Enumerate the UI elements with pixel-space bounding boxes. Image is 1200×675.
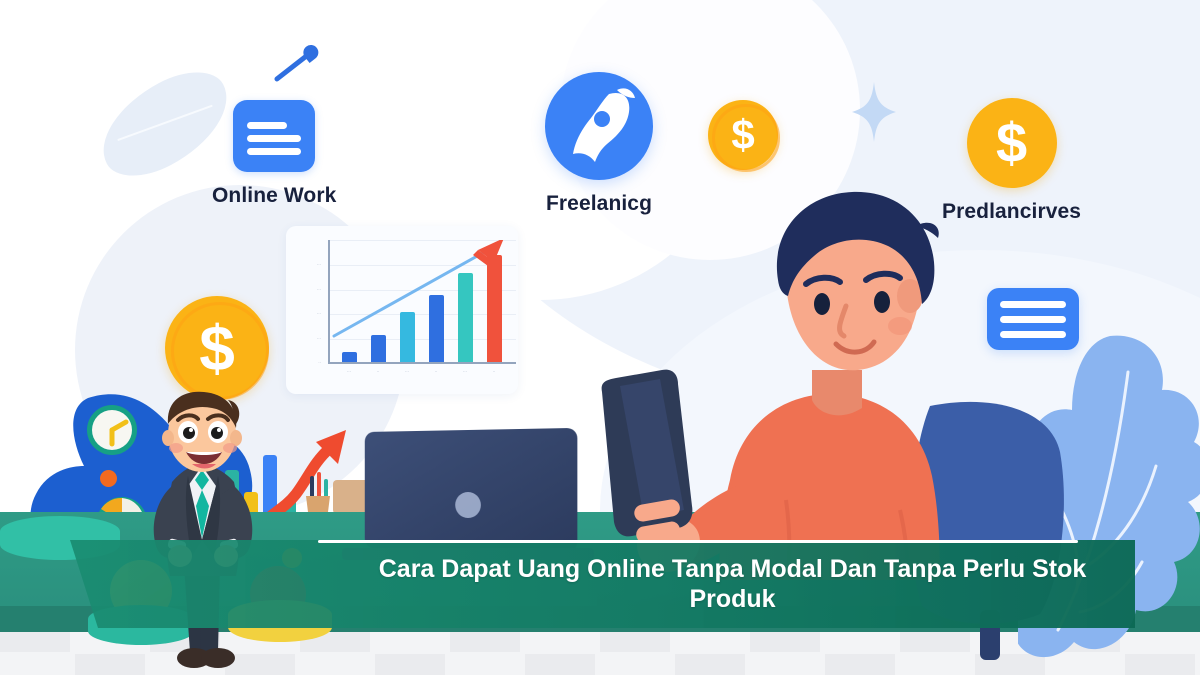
coin-top-center: $: [708, 100, 778, 170]
chart-xtick: ∙∙: [435, 369, 438, 375]
document-pen-icon: [233, 100, 315, 172]
chart-plot-area: ∙∙∙ ∙∙∙ ∙∙∙ ∙∙∙ ∙∙ ∙∙∙ ∙∙ ∙∙∙ ∙∙ ∙∙∙ ∙∙: [328, 240, 508, 364]
laptop-logo: [455, 492, 481, 518]
man-with-phone: [600, 180, 960, 580]
badge-online-work[interactable]: Online Work: [212, 100, 336, 208]
badge-label-freelancers: Predlancirves: [942, 200, 1081, 224]
badge-freelancers[interactable]: $ Predlancirves: [942, 98, 1081, 224]
chart-xtick: ∙∙∙: [347, 369, 351, 375]
dollar-symbol: $: [731, 114, 754, 156]
trend-arrow-annotation: [328, 240, 508, 364]
chart-xtick: ∙∙: [377, 369, 380, 375]
dollar-symbol: $: [199, 316, 235, 380]
chart-ytick: ∙∙∙: [317, 287, 321, 293]
chart-xtick: ∙∙: [493, 369, 496, 375]
dollar-coin-icon: $: [967, 98, 1057, 188]
chart-ytick: ∙∙: [318, 360, 321, 366]
badge-label-online-work: Online Work: [212, 184, 336, 208]
wall-clock-icon: [85, 403, 139, 457]
dollar-symbol: $: [996, 115, 1027, 171]
illustration-canvas: Online Work Freelanicg $ Predlancirves $…: [0, 0, 1200, 675]
pen-icon: [274, 50, 313, 82]
bar-chart-panel: ∙∙∙ ∙∙∙ ∙∙∙ ∙∙∙ ∙∙ ∙∙∙ ∙∙ ∙∙∙ ∙∙ ∙∙∙ ∙∙: [286, 226, 518, 394]
rocket-icon: [545, 72, 653, 180]
chart-xtick: ∙∙∙: [463, 369, 467, 375]
banner-top-rule: [318, 540, 1078, 543]
sparkle-star-icon: [852, 82, 896, 142]
chart-ytick: ∙∙∙: [317, 311, 321, 317]
orange-dot-decoration: [100, 470, 117, 487]
page-title: Cara Dapat Uang Online Tanpa Modal Dan T…: [353, 554, 1113, 615]
title-banner: Cara Dapat Uang Online Tanpa Modal Dan T…: [70, 540, 1135, 628]
laptop-lid: [365, 428, 578, 552]
chart-ytick: ∙∙∙: [317, 262, 321, 268]
chart-ytick: ∙∙∙: [317, 336, 321, 342]
businessman-3d-character: [132, 390, 272, 675]
chart-xtick: ∙∙∙: [405, 369, 409, 375]
coin-left-large: $: [165, 296, 269, 400]
